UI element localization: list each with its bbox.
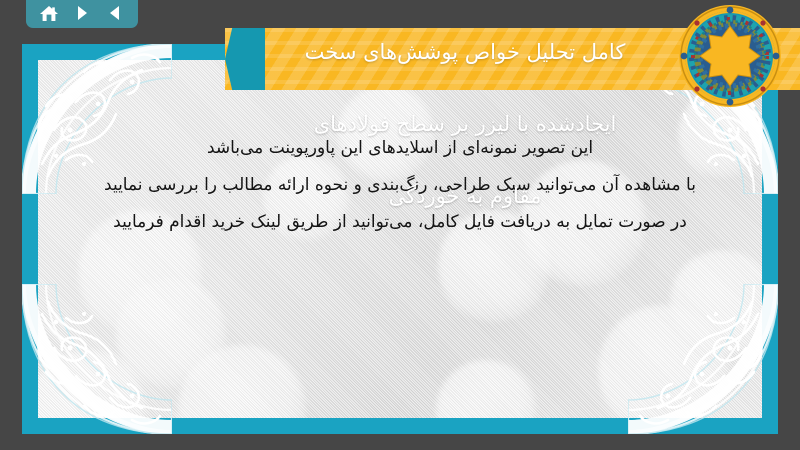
bokeh-circle xyxy=(436,360,536,418)
title-line-2: ایجادشده با لیزر بر سطح فولادهای xyxy=(260,106,670,142)
next-button[interactable] xyxy=(69,1,95,25)
title-line-3: مقاوم به خوردگی xyxy=(260,178,670,214)
next-triangle-icon xyxy=(73,4,91,22)
previous-button[interactable] xyxy=(102,1,128,25)
slide-title: کامل تحلیل خواص پوشش‌های سخت ایجادشده با… xyxy=(260,0,670,250)
slide-stage: این تصویر نمونه‌ای از اسلایدهای این پاور… xyxy=(0,0,800,450)
banner-arrow-tab xyxy=(225,28,265,90)
home-button[interactable] xyxy=(36,1,62,25)
navigation-bar[interactable] xyxy=(26,0,138,28)
home-icon xyxy=(39,4,59,23)
title-line-1: کامل تحلیل خواص پوشش‌های سخت xyxy=(260,34,670,70)
persian-medallion-ornament xyxy=(678,4,782,108)
previous-triangle-icon xyxy=(106,4,124,22)
